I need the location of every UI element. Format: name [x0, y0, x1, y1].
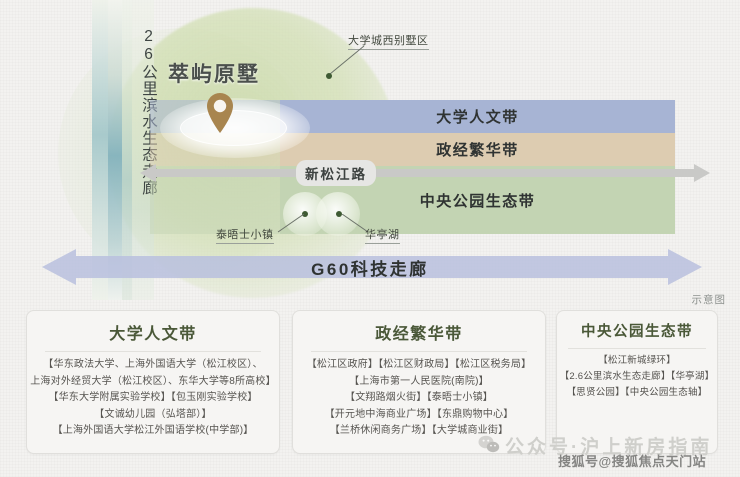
card-body-economy: 【松江区政府】【松江区财政局】【松江区税务局】 【上海市第一人民医院(南院)】 … — [293, 358, 545, 438]
band-university-culture: 大学人文带 — [280, 100, 675, 133]
card-divider — [568, 348, 706, 349]
card-line: 【上海外国语大学松江外国语学校(中学部)】 — [53, 424, 254, 438]
poi-dot-university-west-villa — [326, 73, 332, 79]
card-title-economy: 政经繁华带 — [375, 320, 463, 344]
callout-leader-line-1 — [306, 44, 366, 80]
xinsongjiang-road-arrow — [140, 162, 710, 184]
card-line: 【松江区政府】【松江区财政局】【松江区税务局】 — [307, 358, 532, 372]
card-divider — [311, 351, 528, 352]
card-line: 【松江新城绿环】 — [598, 355, 676, 368]
callout-leader-line-2 — [272, 214, 308, 234]
card-line: 【开元地中海商业广场】【东鼎购物中心】 — [325, 408, 514, 422]
g60-corridor-arrow — [42, 248, 702, 286]
card-line: 【2.6公里滨水生态走廊】【华亭湖】 — [560, 371, 715, 384]
band-label-ecology: 中央公园生态带 — [420, 190, 536, 211]
wechat-icon — [478, 434, 500, 454]
road-label-xinsongjiang: 新松江路 — [296, 160, 376, 186]
card-university-culture: 大学人文带 【华东政法大学、上海外国语大学（松江校区）、 上海对外经贸大学（松江… — [26, 310, 280, 454]
callout-label-huating-lake: 华亭湖 — [365, 226, 400, 244]
card-line: 【文翔路烟火街】【泰晤士小镇】 — [345, 391, 493, 405]
map-pin-icon — [205, 92, 235, 134]
card-line: 【文诚幼儿园（弘塔部）】 — [94, 408, 211, 422]
card-line: 【上海市第一人民医院(南院)】 — [349, 375, 489, 389]
card-divider — [45, 351, 262, 352]
card-title-ecology: 中央公园生态带 — [581, 320, 693, 341]
map-diagram: 26公里滨水生态走廊 大学人文带 政经繁华带 中央公园生态带 萃屿原墅 新松江路… — [0, 0, 740, 300]
card-title-university: 大学人文带 — [109, 320, 197, 344]
card-line: 【华东政法大学、上海外国语大学（松江校区）、 — [43, 358, 262, 372]
card-body-university: 【华东政法大学、上海外国语大学（松江校区）、 上海对外经贸大学（松江校区）、东华… — [27, 358, 279, 438]
card-body-ecology: 【松江新城绿环】 【2.6公里滨水生态走廊】【华亭湖】 【思贤公园】【中央公园生… — [557, 355, 717, 399]
band-label-university: 大学人文带 — [436, 106, 519, 127]
watermark-sohu: 搜狐号@搜狐焦点天门站 — [558, 451, 706, 470]
schematic-note: 示意图 — [692, 292, 727, 307]
project-name-label: 萃屿原墅 — [168, 58, 260, 88]
card-line: 【华东大学附属实验学校】【包玉刚实验学校】 — [48, 391, 257, 405]
card-line: 上海对外经贸大学（松江校区）、东华大学等8所高校】 — [30, 375, 276, 389]
callout-label-thames-town: 泰晤士小镇 — [216, 226, 274, 244]
card-line: 【思贤公园】【中央公园生态轴】 — [567, 387, 708, 400]
band-label-economy: 政经繁华带 — [436, 139, 519, 160]
